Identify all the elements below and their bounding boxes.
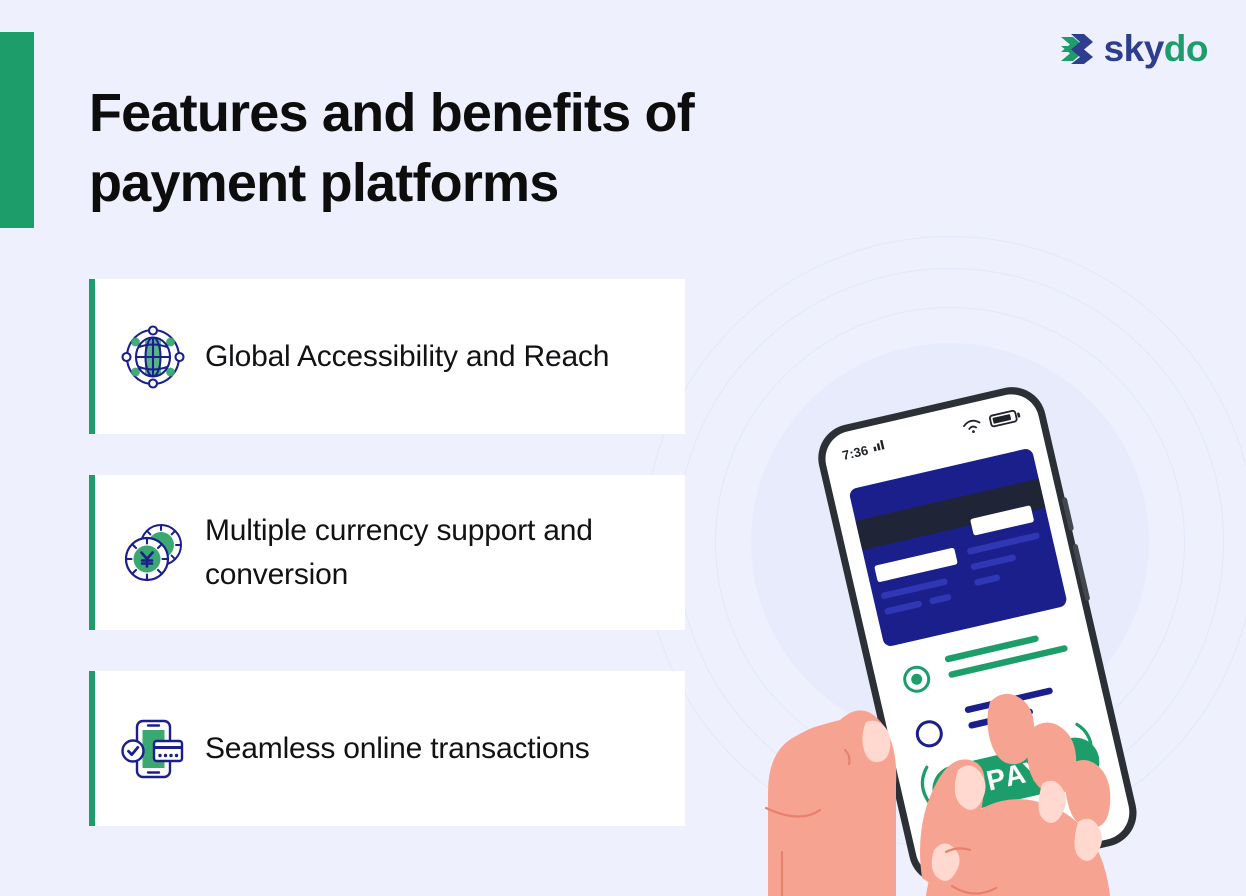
logo-text-do: do	[1164, 28, 1208, 69]
feature-card-seamless-transactions[interactable]: Seamless online transactions	[89, 671, 685, 826]
page-title-line-1: Features and benefits of	[89, 83, 694, 143]
infographic-canvas: skydo Features and benefits ofpayment pl…	[0, 0, 1246, 896]
hand-tapping-pay-illustration: 7:36	[690, 250, 1246, 896]
skydo-logo-wordmark: skydo	[1104, 30, 1208, 67]
feature-card-label: Seamless online transactions	[205, 727, 590, 770]
page-title: Features and benefits ofpayment platform…	[89, 78, 849, 218]
feature-card-label: Multiple currency support and conversion	[205, 509, 663, 595]
skydo-logo[interactable]: skydo	[1059, 30, 1208, 67]
coins-currency-icon	[121, 519, 185, 587]
illustration-svg: 7:36	[690, 250, 1246, 896]
feature-card-label: Global Accessibility and Reach	[205, 335, 609, 378]
left-accent-bar	[0, 32, 34, 228]
page-title-line-2: payment platforms	[89, 153, 559, 213]
feature-card-global-accessibility[interactable]: Global Accessibility and Reach	[89, 279, 685, 434]
feature-card-list: Global Accessibility and Reach	[89, 279, 685, 867]
feature-card-multiple-currency[interactable]: Multiple currency support and conversion	[89, 475, 685, 630]
logo-text-sky: sky	[1104, 28, 1164, 69]
skydo-chevron-mark	[1059, 32, 1095, 66]
globe-network-icon	[121, 323, 185, 391]
phone-card-check-icon	[121, 715, 185, 783]
